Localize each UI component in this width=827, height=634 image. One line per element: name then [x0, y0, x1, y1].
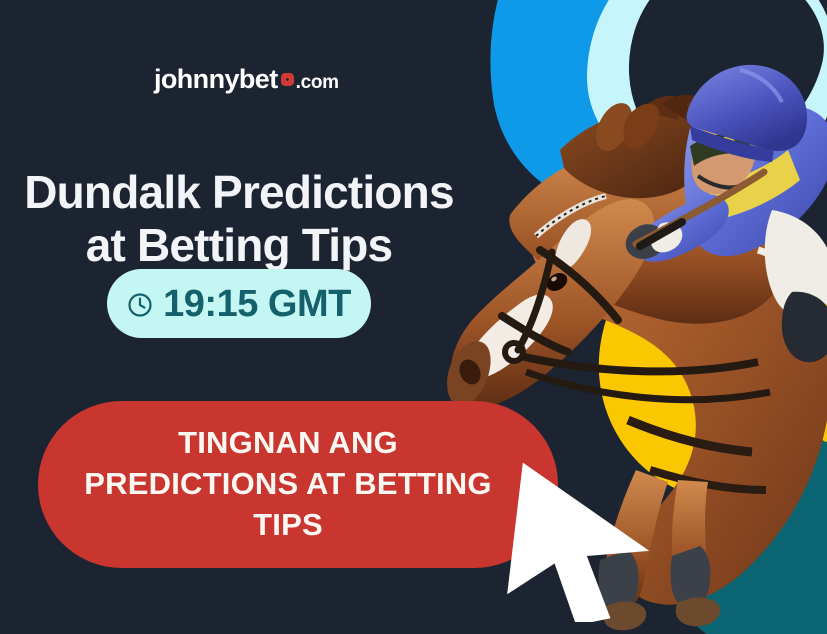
clock-icon	[127, 292, 153, 318]
race-time-badge: 19:15 GMT	[107, 269, 371, 338]
clover-icon	[281, 73, 294, 86]
site-logo[interactable]: johnnybet .com	[154, 66, 339, 93]
race-time-text: 19:15 GMT	[163, 285, 351, 323]
cta-button[interactable]: TINGNAN ANG PREDICTIONS AT BETTING TIPS	[38, 401, 558, 568]
headline-line-1: Dundalk Predictions	[0, 166, 478, 219]
logo-wordmark: johnnybet	[154, 66, 278, 93]
banner-ad: johnnybet .com Dundalk Predictions at Be…	[0, 0, 827, 634]
logo-tld: .com	[296, 73, 339, 92]
cta-button-label: TINGNAN ANG PREDICTIONS AT BETTING TIPS	[38, 423, 558, 546]
headline-line-2: at Betting Tips	[0, 219, 478, 272]
page-title: Dundalk Predictions at Betting Tips	[0, 166, 478, 273]
